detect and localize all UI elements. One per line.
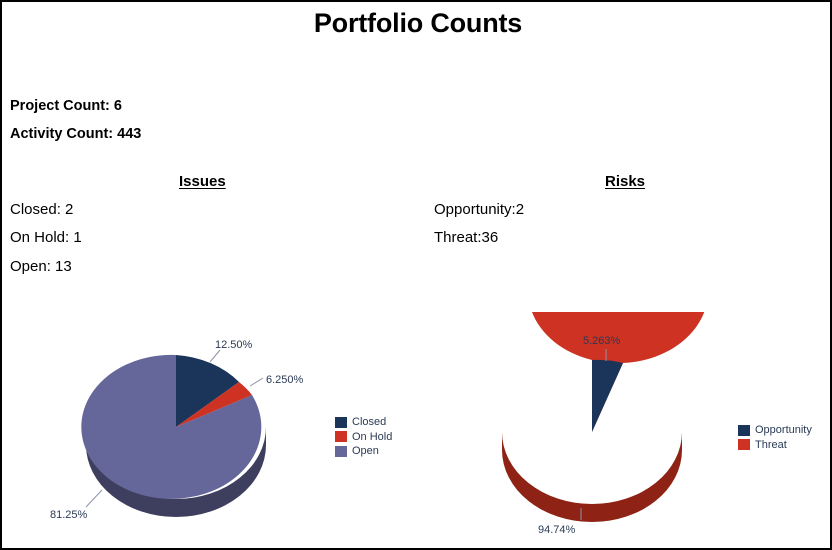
legend-item-open: Open: [335, 444, 392, 459]
legend-label-open: Open: [352, 445, 379, 457]
issues-slice-open: [81, 355, 261, 499]
page-title: Portfolio Counts: [2, 8, 832, 39]
risks-opportunity-count: Opportunity:2: [434, 201, 524, 218]
risks-slice-opportunity: [592, 360, 623, 432]
issues-leader-line-closed: [210, 350, 220, 362]
issues-pct-closed: 12.50%: [215, 339, 253, 351]
risks-chart-legend: Opportunity Threat: [738, 423, 812, 452]
issues-pct-onhold: 6.250%: [266, 374, 304, 386]
legend-label-threat: Threat: [755, 439, 787, 451]
issues-leader-line-onhold: [250, 378, 263, 386]
risks-pie-chart: 5.263% 94.74%: [454, 312, 754, 542]
legend-swatch-open-icon: [335, 446, 347, 457]
legend-label-closed: Closed: [352, 416, 386, 428]
activity-count-label: Activity Count: 443: [10, 126, 141, 142]
legend-swatch-on-hold-icon: [335, 431, 347, 442]
legend-item-on-hold: On Hold: [335, 430, 392, 445]
issues-onhold-count: On Hold: 1: [10, 229, 82, 246]
risks-threat-count: Threat:36: [434, 229, 498, 246]
issues-chart-legend: Closed On Hold Open: [335, 415, 392, 459]
issues-open-count: Open: 13: [10, 258, 72, 275]
legend-item-opportunity: Opportunity: [738, 423, 812, 438]
risks-section-heading: Risks: [605, 173, 645, 190]
issues-closed-count: Closed: 2: [10, 201, 73, 218]
legend-item-threat: Threat: [738, 438, 812, 453]
risks-pct-threat: 94.74%: [538, 524, 576, 536]
legend-swatch-closed-icon: [335, 417, 347, 428]
legend-swatch-threat-icon: [738, 439, 750, 450]
risks-threat-slice-depth: [502, 432, 682, 522]
issues-section-heading: Issues: [179, 173, 226, 190]
issues-pct-open: 81.25%: [50, 509, 88, 521]
legend-label-opportunity: Opportunity: [755, 424, 812, 436]
issues-leader-line-open: [86, 490, 102, 507]
legend-label-on-hold: On Hold: [352, 431, 392, 443]
legend-swatch-opportunity-icon: [738, 425, 750, 436]
project-count-label: Project Count: 6: [10, 98, 122, 114]
issues-pie-chart: 12.50% 6.250% 81.25%: [30, 312, 330, 542]
risks-pct-opportunity: 5.263%: [583, 335, 621, 347]
legend-item-closed: Closed: [335, 415, 392, 430]
portfolio-counts-report: Portfolio Counts Project Count: 6 Activi…: [0, 0, 832, 550]
